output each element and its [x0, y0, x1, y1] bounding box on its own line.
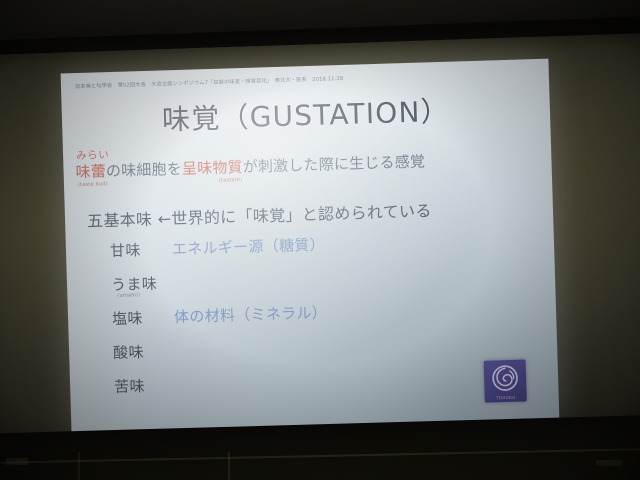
desk-seam-right [228, 452, 230, 480]
taste-list: 甘味 エネルギー源（糖質） うま味 (umami) 塩味 体の材料（ミネラル） … [110, 227, 535, 410]
desk-seam-left [78, 452, 80, 480]
taste-name: 苦味 [114, 375, 145, 397]
taste-name: 酸味 [113, 341, 144, 363]
slide-title: 味覚（GUSTATION） [61, 87, 550, 142]
definition-term-tastant: 呈味物質 [182, 158, 243, 178]
definition-term-mirai: 味蕾 [75, 162, 106, 181]
definition-block: みらい 味蕾の味細胞を呈味物質が刺激した際に生じる感覚 (taste bud) … [75, 137, 536, 191]
taste-ruby: (umami) [117, 292, 140, 299]
taste-name: 甘味 [110, 239, 141, 261]
annotation-tastant: (tastant) [219, 177, 243, 184]
taste-description: エネルギー源（糖質） [172, 234, 326, 260]
taste-name: 塩味 [112, 307, 143, 329]
slide-header-line: 日本味と匂学会 第52回大会 大会企画シンポジウム7「加齢の味覚・嗅覚変化」 東… [75, 75, 344, 90]
desk-marking-left [6, 458, 28, 465]
taste-description: 体の材料（ミネラル） [174, 302, 328, 328]
definition-text-1: の味細胞を [106, 159, 183, 179]
university-logo: TOHOKU [484, 359, 527, 402]
photo-of-projection-screen: 日本味と匂学会 第52回大会 大会企画シンポジウム7「加齢の味覚・嗅覚変化」 東… [0, 0, 640, 480]
logo-caption: TOHOKU [485, 394, 527, 400]
projected-slide: 日本味と匂学会 第52回大会 大会企画シンポジウム7「加齢の味覚・嗅覚変化」 東… [61, 59, 560, 436]
slide-content: 日本味と匂学会 第52回大会 大会企画シンポジウム7「加齢の味覚・嗅覚変化」 東… [61, 59, 560, 436]
crest-icon [491, 364, 520, 393]
desk-marking-right [596, 460, 622, 466]
annotation-taste-bud: (taste bud) [78, 181, 108, 188]
five-basic-tastes-heading: 五基本味 ←世界的に「味覚」と認められている [87, 197, 432, 232]
slide-header-text: 日本味と匂学会 第52回大会 大会企画シンポジウム7「加齢の味覚・嗅覚変化」 東… [75, 76, 344, 90]
